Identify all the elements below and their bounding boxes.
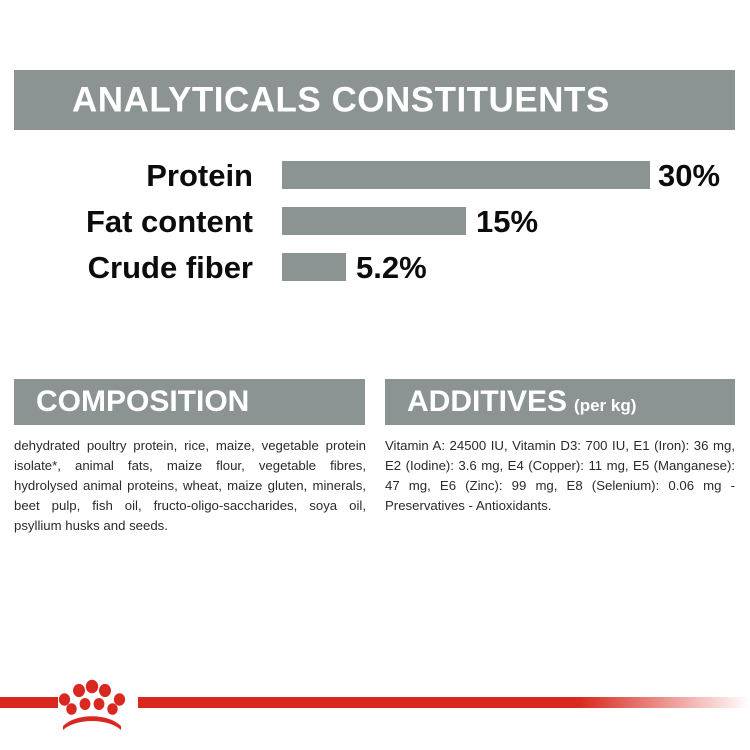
composition-heading-group: COMPOSITION bbox=[36, 387, 249, 417]
additives-section-header: ADDITIVES (per kg) bbox=[385, 379, 735, 425]
royal-canin-crown-icon bbox=[52, 675, 132, 731]
analytical-constituents-chart: Protein 30% Fat content 15% Crude fiber … bbox=[0, 150, 750, 290]
chart-category-label: Fat content bbox=[0, 206, 253, 237]
additives-heading-unit: (per kg) bbox=[574, 397, 636, 414]
brand-footer bbox=[0, 697, 750, 709]
brand-rule-right bbox=[138, 697, 750, 708]
composition-section-header: COMPOSITION bbox=[14, 379, 365, 425]
chart-row: Protein 30% bbox=[0, 152, 750, 198]
chart-category-label: Protein bbox=[0, 160, 253, 191]
composition-body-text: dehydrated poultry protein, rice, maize,… bbox=[14, 436, 366, 536]
analytical-constituents-header: ANALYTICALS CONSTITUENTS bbox=[14, 70, 735, 130]
additives-heading-group: ADDITIVES (per kg) bbox=[407, 387, 636, 417]
chart-value-label: 5.2% bbox=[356, 252, 427, 283]
page-title: ANALYTICALS CONSTITUENTS bbox=[72, 83, 610, 118]
nutrition-panel: ANALYTICALS CONSTITUENTS Protein 30% Fat… bbox=[0, 0, 750, 750]
additives-body-text: Vitamin A: 24500 IU, Vitamin D3: 700 IU,… bbox=[385, 436, 735, 516]
brand-rule-left bbox=[0, 697, 58, 708]
chart-category-label: Crude fiber bbox=[0, 252, 253, 283]
chart-bar bbox=[282, 207, 466, 235]
chart-row: Crude fiber 5.2% bbox=[0, 244, 750, 290]
chart-value-label: 30% bbox=[658, 160, 720, 191]
composition-heading: COMPOSITION bbox=[36, 387, 249, 417]
chart-bar bbox=[282, 161, 650, 189]
chart-value-label: 15% bbox=[476, 206, 538, 237]
chart-bar bbox=[282, 253, 346, 281]
additives-heading: ADDITIVES bbox=[407, 387, 567, 417]
chart-row: Fat content 15% bbox=[0, 198, 750, 244]
